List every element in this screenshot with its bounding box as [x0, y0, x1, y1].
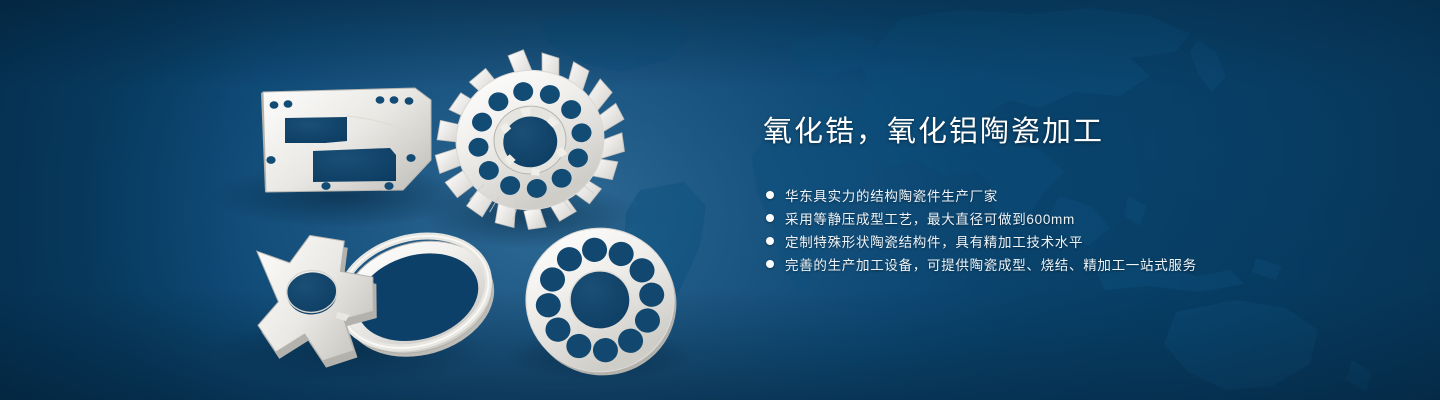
- bullet-dot-icon: [766, 237, 774, 245]
- list-item-label: 完善的生产加工设备，可提供陶瓷成型、烧结、精加工一站式服务: [785, 254, 1197, 274]
- list-item-label: 定制特殊形状陶瓷结构件，具有精加工技术水平: [785, 231, 1083, 251]
- ceramic-plate-with-cutouts: [261, 88, 431, 192]
- feature-list: 华东具实力的结构陶瓷件生产厂家 采用等静压成型工艺，最大直径可做到600mm 定…: [766, 183, 1363, 275]
- list-item-label: 采用等静压成型工艺，最大直径可做到600mm: [785, 208, 1075, 228]
- list-item-label: 华东具实力的结构陶瓷件生产厂家: [785, 185, 998, 205]
- bullet-dot-icon: [766, 191, 774, 199]
- hero-banner: 氧化锆，氧化铝陶瓷加工 华东具实力的结构陶瓷件生产厂家 采用等静压成型工艺，最大…: [0, 0, 1440, 400]
- list-item: 采用等静压成型工艺，最大直径可做到600mm: [766, 206, 1363, 229]
- list-item: 完善的生产加工设备，可提供陶瓷成型、烧结、精加工一站式服务: [766, 252, 1363, 275]
- page-title: 氧化锆，氧化铝陶瓷加工: [763, 108, 1363, 150]
- list-item: 定制特殊形状陶瓷结构件，具有精加工技术水平: [766, 229, 1363, 252]
- bullet-dot-icon: [766, 260, 774, 268]
- list-item: 华东具实力的结构陶瓷件生产厂家: [766, 183, 1363, 206]
- ceramic-products-image: [0, 0, 760, 400]
- banner-text-block: 氧化锆，氧化铝陶瓷加工 华东具实力的结构陶瓷件生产厂家 采用等静压成型工艺，最大…: [763, 108, 1363, 275]
- bullet-dot-icon: [766, 214, 774, 222]
